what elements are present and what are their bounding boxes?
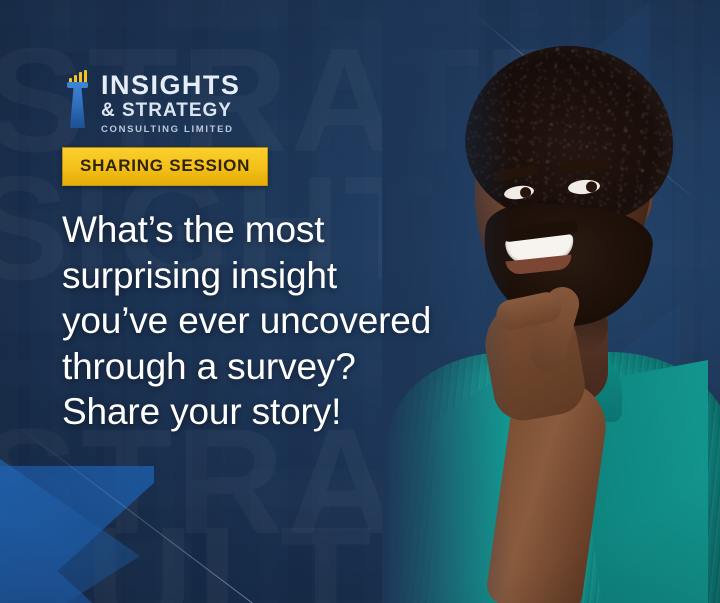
headline-line-3: you’ve ever uncovered	[62, 298, 492, 344]
brand-logo-text: INSIGHTS & STRATEGY CONSULTING LIMITED	[101, 70, 240, 136]
brand-name-primary: INSIGHTS	[101, 72, 240, 100]
headline-line-2: surprising insight	[62, 253, 492, 299]
headline-line-4: through a survey?	[62, 344, 492, 390]
brand-name-tagline: CONSULTING LIMITED	[101, 124, 240, 135]
session-type-badge: SHARING SESSION	[62, 147, 268, 186]
headline: What’s the most surprising insight you’v…	[62, 207, 492, 435]
social-media-poster: STRATE SIGHT STRA SULTING	[0, 0, 720, 603]
pillar-icon	[70, 86, 85, 128]
headline-line-5: Share your story!	[62, 389, 492, 435]
headline-line-1: What’s the most	[62, 207, 492, 253]
brand-name-secondary: & STRATEGY	[101, 101, 240, 122]
brand-logo: INSIGHTS & STRATEGY CONSULTING LIMITED	[64, 70, 240, 136]
bar-chart-pillar-icon	[64, 70, 92, 128]
